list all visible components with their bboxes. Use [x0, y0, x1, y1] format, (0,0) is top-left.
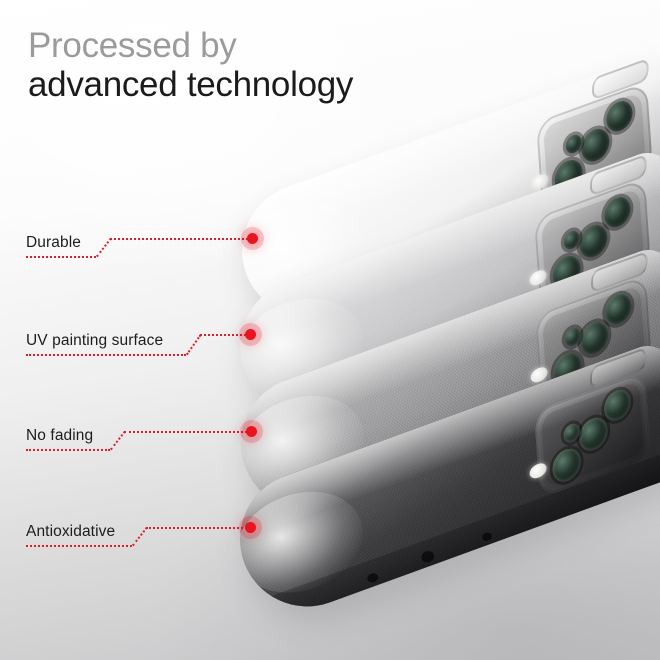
feature-callout: Antioxidative: [0, 0, 660, 660]
callout-marker-dot: [245, 522, 256, 533]
callout-diagonal: [132, 527, 148, 546]
callout-label: Antioxidative: [26, 523, 115, 541]
callout-underline: [26, 545, 132, 547]
product-feature-image: Processed by advanced technology Durable…: [0, 0, 660, 660]
callout-leader-line: [146, 527, 250, 529]
